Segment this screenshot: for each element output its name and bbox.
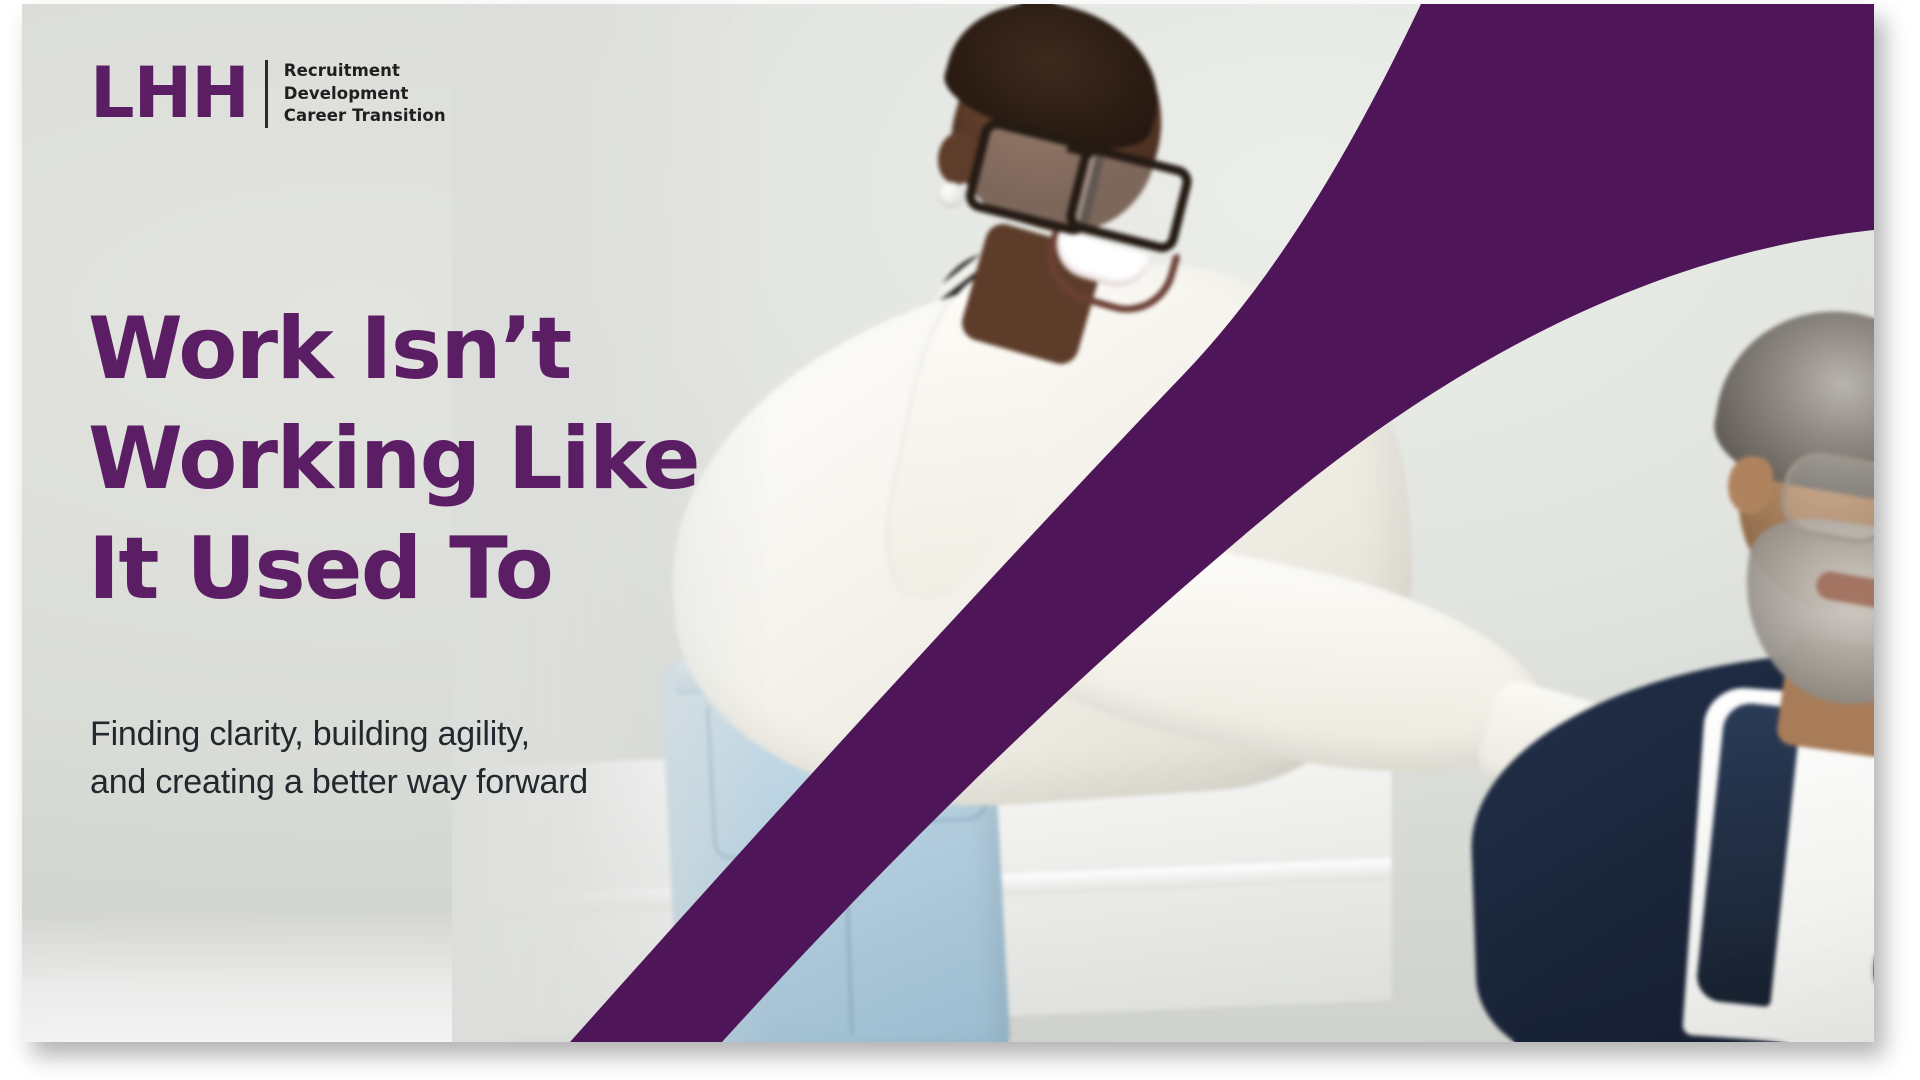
headline-line-3: It Used To (88, 514, 848, 624)
lhh-logo: LHH Recruitment Development Career Trans… (90, 60, 446, 128)
headline-line-1: Work Isn’t (88, 294, 848, 404)
logo-divider-rule (265, 60, 268, 128)
headline-line-2: Working Like (88, 404, 848, 514)
page-title: Work Isn’t Working Like It Used To (88, 294, 848, 624)
presentation-slide: LHH Recruitment Development Career Trans… (22, 4, 1874, 1042)
subhead-line-2: and creating a better way forward (90, 758, 810, 806)
lhh-wordmark: LHH (90, 65, 249, 122)
page-subtitle: Finding clarity, building agility, and c… (90, 710, 810, 807)
logo-tagline: Recruitment Development Career Transitio… (284, 60, 446, 127)
screenshot-stage: LHH Recruitment Development Career Trans… (0, 0, 1920, 1080)
subhead-line-1: Finding clarity, building agility, (90, 710, 810, 758)
